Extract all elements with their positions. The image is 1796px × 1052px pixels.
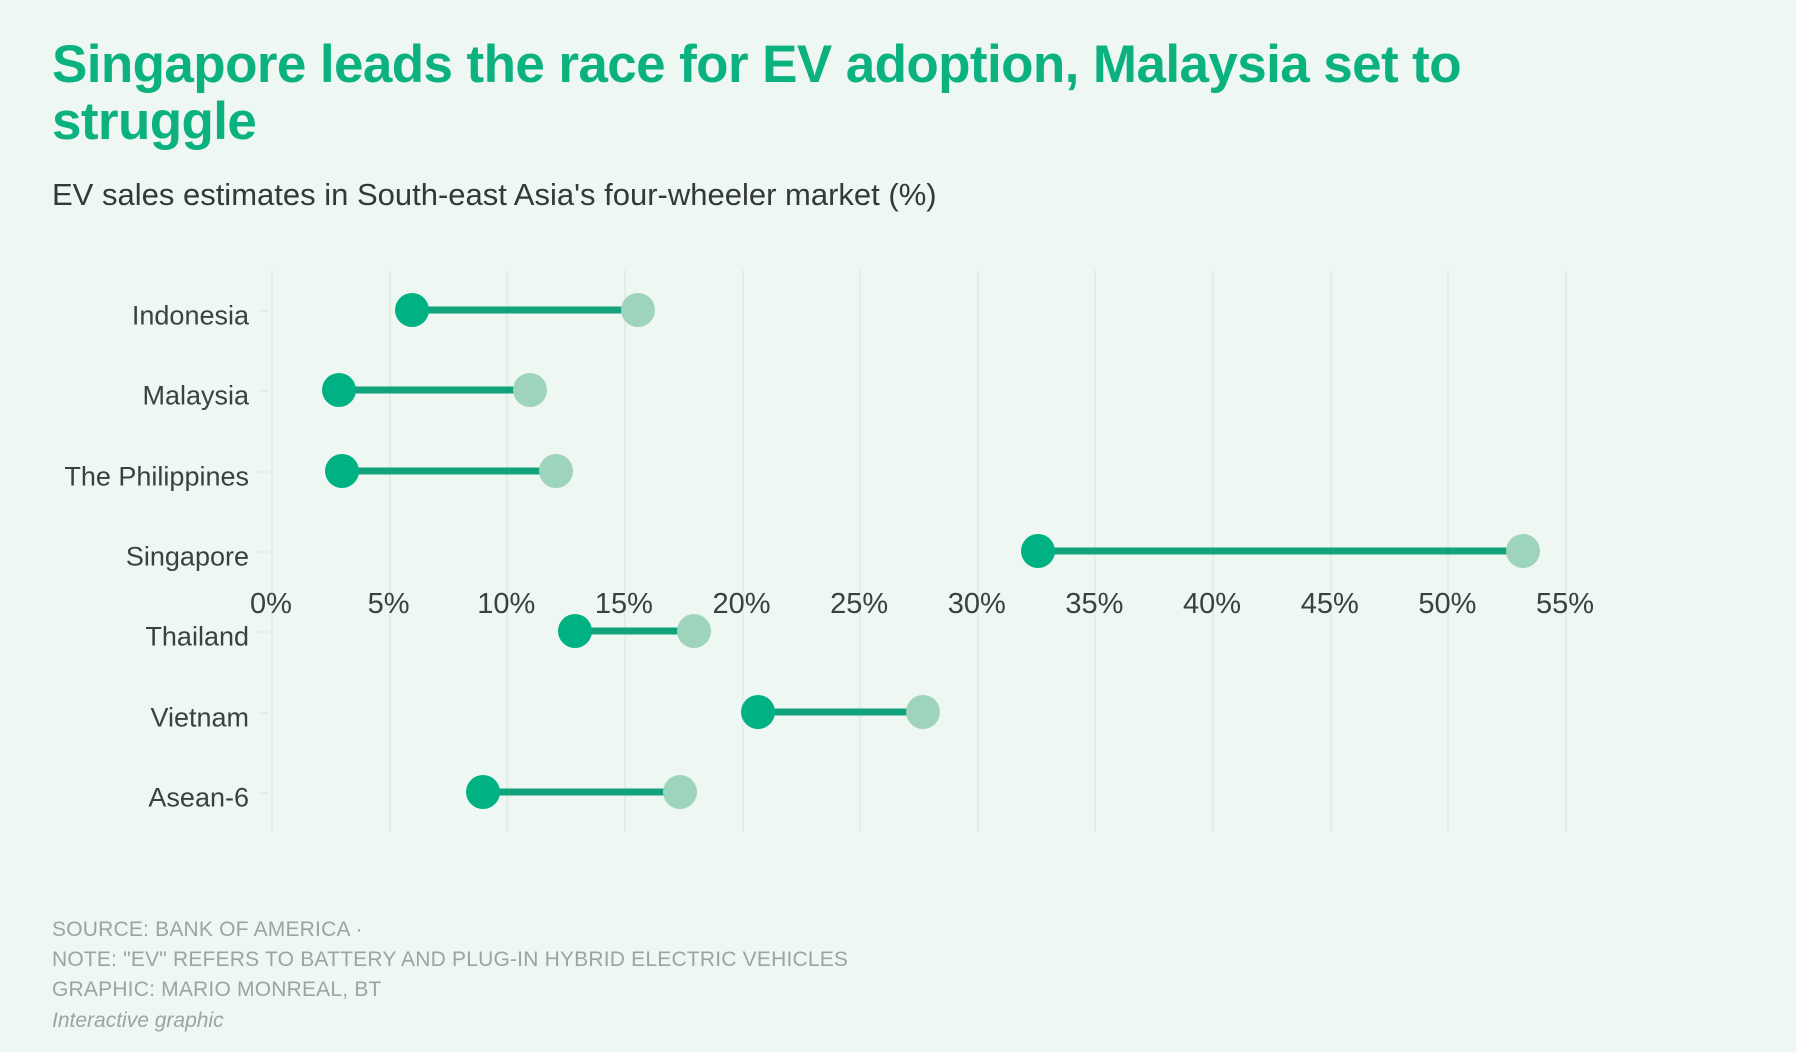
x-axis: 0%5%10%15%20%25%30%35%40%45%50%55% [271, 588, 1565, 634]
gridline [506, 270, 508, 832]
y-axis-label-indonesia: Indonesia [132, 301, 271, 332]
x-axis-tick-label: 40% [1183, 588, 1241, 621]
dumbbell-high-marker[interactable] [663, 775, 697, 809]
dumbbell-low-marker[interactable] [325, 454, 359, 488]
gridline [389, 270, 391, 832]
y-axis-category-labels: IndonesiaMalaysiaThe PhilippinesSingapor… [0, 270, 271, 832]
dumbbell-high-marker[interactable] [621, 293, 655, 327]
x-axis-tick-label: 35% [1065, 588, 1123, 621]
y-axis-tick [258, 471, 269, 473]
dumbbell-low-marker[interactable] [1021, 534, 1055, 568]
dumbbell-high-marker[interactable] [1506, 534, 1540, 568]
footer-graphic: GRAPHIC: MARIO MONREAL, BT [52, 975, 1652, 1005]
chart-footer: SOURCE: BANK OF AMERICA · NOTE: "EV" REF… [52, 915, 1652, 1036]
dumbbell-high-marker[interactable] [906, 695, 940, 729]
x-axis-tick-label: 45% [1301, 588, 1359, 621]
x-axis-tick-label: 55% [1536, 588, 1594, 621]
dumbbell-plot [271, 270, 1565, 832]
y-axis-label-thailand: Thailand [145, 622, 271, 653]
y-axis-tick [258, 390, 269, 392]
gridline [859, 270, 861, 832]
gridline [1565, 270, 1567, 832]
gridline [742, 270, 744, 832]
y-axis-label-malaysia: Malaysia [142, 381, 271, 412]
gridline [624, 270, 626, 832]
page-title: Singapore leads the race for EV adoption… [52, 36, 1612, 150]
x-axis-tick-label: 15% [595, 588, 653, 621]
footer-source: SOURCE: BANK OF AMERICA · [52, 915, 1652, 945]
dumbbell-connector [483, 788, 681, 795]
x-axis-tick-label: 0% [250, 588, 292, 621]
gridline [977, 270, 979, 832]
y-axis-tick [258, 310, 269, 312]
dumbbell-low-marker[interactable] [741, 695, 775, 729]
y-axis-tick [258, 631, 269, 633]
dumbbell-connector [412, 307, 638, 314]
dumbbell-high-marker[interactable] [513, 373, 547, 407]
footer-interactive-label: Interactive graphic [52, 1006, 1652, 1036]
x-axis-tick-label: 5% [368, 588, 410, 621]
chart-header: Singapore leads the race for EV adoption… [52, 36, 1672, 215]
dumbbell-connector [339, 387, 530, 394]
x-axis-tick-label: 20% [713, 588, 771, 621]
y-axis-label-singapore: Singapore [126, 542, 271, 573]
footer-note: NOTE: "EV" REFERS TO BATTERY AND PLUG-IN… [52, 945, 1652, 975]
y-axis-tick [258, 551, 269, 553]
gridline [271, 270, 273, 832]
dumbbell-high-marker[interactable] [539, 454, 573, 488]
dumbbell-connector [1038, 548, 1523, 555]
plot-area: IndonesiaMalaysiaThe PhilippinesSingapor… [0, 264, 1796, 884]
y-axis-label-asean-6: Asean-6 [148, 782, 271, 813]
x-axis-tick-label: 25% [830, 588, 888, 621]
dumbbell-low-marker[interactable] [395, 293, 429, 327]
chart-subtitle: EV sales estimates in South-east Asia's … [52, 176, 1672, 215]
chart-page: Singapore leads the race for EV adoption… [0, 0, 1796, 1052]
y-axis-tick [258, 712, 269, 714]
x-axis-tick-label: 50% [1418, 588, 1476, 621]
x-axis-tick-label: 30% [948, 588, 1006, 621]
dumbbell-low-marker[interactable] [322, 373, 356, 407]
y-axis-tick [258, 792, 269, 794]
x-axis-tick-label: 10% [477, 588, 535, 621]
dumbbell-connector [758, 708, 923, 715]
dumbbell-connector [342, 467, 556, 474]
y-axis-label-the-philippines: The Philippines [64, 461, 271, 492]
y-axis-label-vietnam: Vietnam [150, 702, 271, 733]
dumbbell-low-marker[interactable] [466, 775, 500, 809]
